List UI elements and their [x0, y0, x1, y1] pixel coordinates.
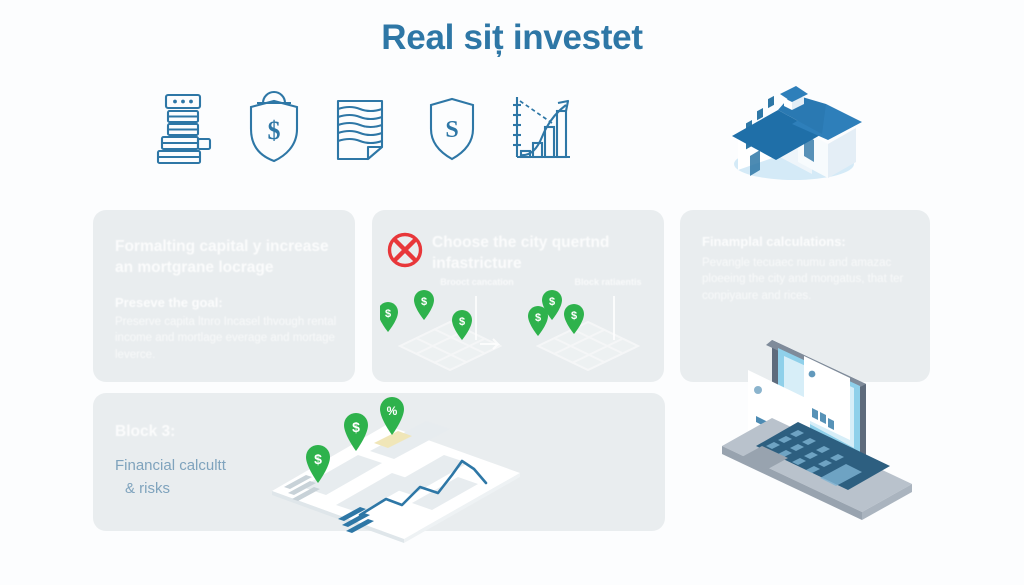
red-x-circle-icon [387, 232, 423, 268]
card-goal-subtitle: Preseve the goal: [115, 295, 341, 310]
isometric-document-chart-illustration: $ $ % [262, 395, 530, 543]
page-title: Real siț investet [0, 18, 1024, 58]
map-pin-group: $ $ $ $ $ [380, 290, 584, 340]
svg-text:$: $ [268, 116, 281, 145]
isometric-house-illustration [716, 78, 866, 182]
svg-text:$: $ [535, 312, 541, 324]
documents-stack-icon [326, 87, 400, 171]
svg-text:S: S [445, 117, 458, 143]
card-city-title: Choose the city quertnd infastricture [432, 232, 650, 275]
isometric-laptop-illustration [700, 312, 936, 520]
card-city: Choose the city quertnd infastricture Br… [372, 210, 664, 382]
svg-text:$: $ [459, 316, 465, 328]
shield-security-icon: S [415, 87, 489, 171]
svg-text:$: $ [314, 451, 322, 467]
card-block3-subtitle-line1: Financial calcultt [115, 457, 226, 474]
card-city-label-right: Block ratiaentis [566, 277, 650, 288]
svg-text:$: $ [421, 296, 427, 308]
icon-row: $ S [148, 86, 578, 172]
money-stack-icon [148, 87, 222, 171]
svg-text:$: $ [352, 419, 360, 435]
card-calculations-body: Pevangle tecuaec numu and amazac ploeein… [702, 255, 916, 304]
map-pins-illustration: $ $ $ $ $ [380, 288, 658, 374]
svg-text:$: $ [549, 296, 555, 308]
svg-text:$: $ [571, 310, 577, 322]
card-goal-title: Formalting capital y increase an mortgra… [115, 236, 341, 279]
card-goal-body: Preserve capita ltnro Incasel thvough re… [115, 314, 343, 363]
card-goal: Formalting capital y increase an mortgra… [93, 210, 355, 382]
growth-chart-icon [504, 87, 578, 171]
svg-text:$: $ [385, 308, 391, 320]
infographic-canvas: Real siț investet [0, 0, 1024, 585]
shield-dollar-icon: $ [237, 87, 311, 171]
card-city-label-left: Brooct cancation [435, 277, 519, 288]
svg-text:%: % [387, 404, 398, 418]
card-calculations-title: Finamplal calculations: [702, 234, 914, 249]
